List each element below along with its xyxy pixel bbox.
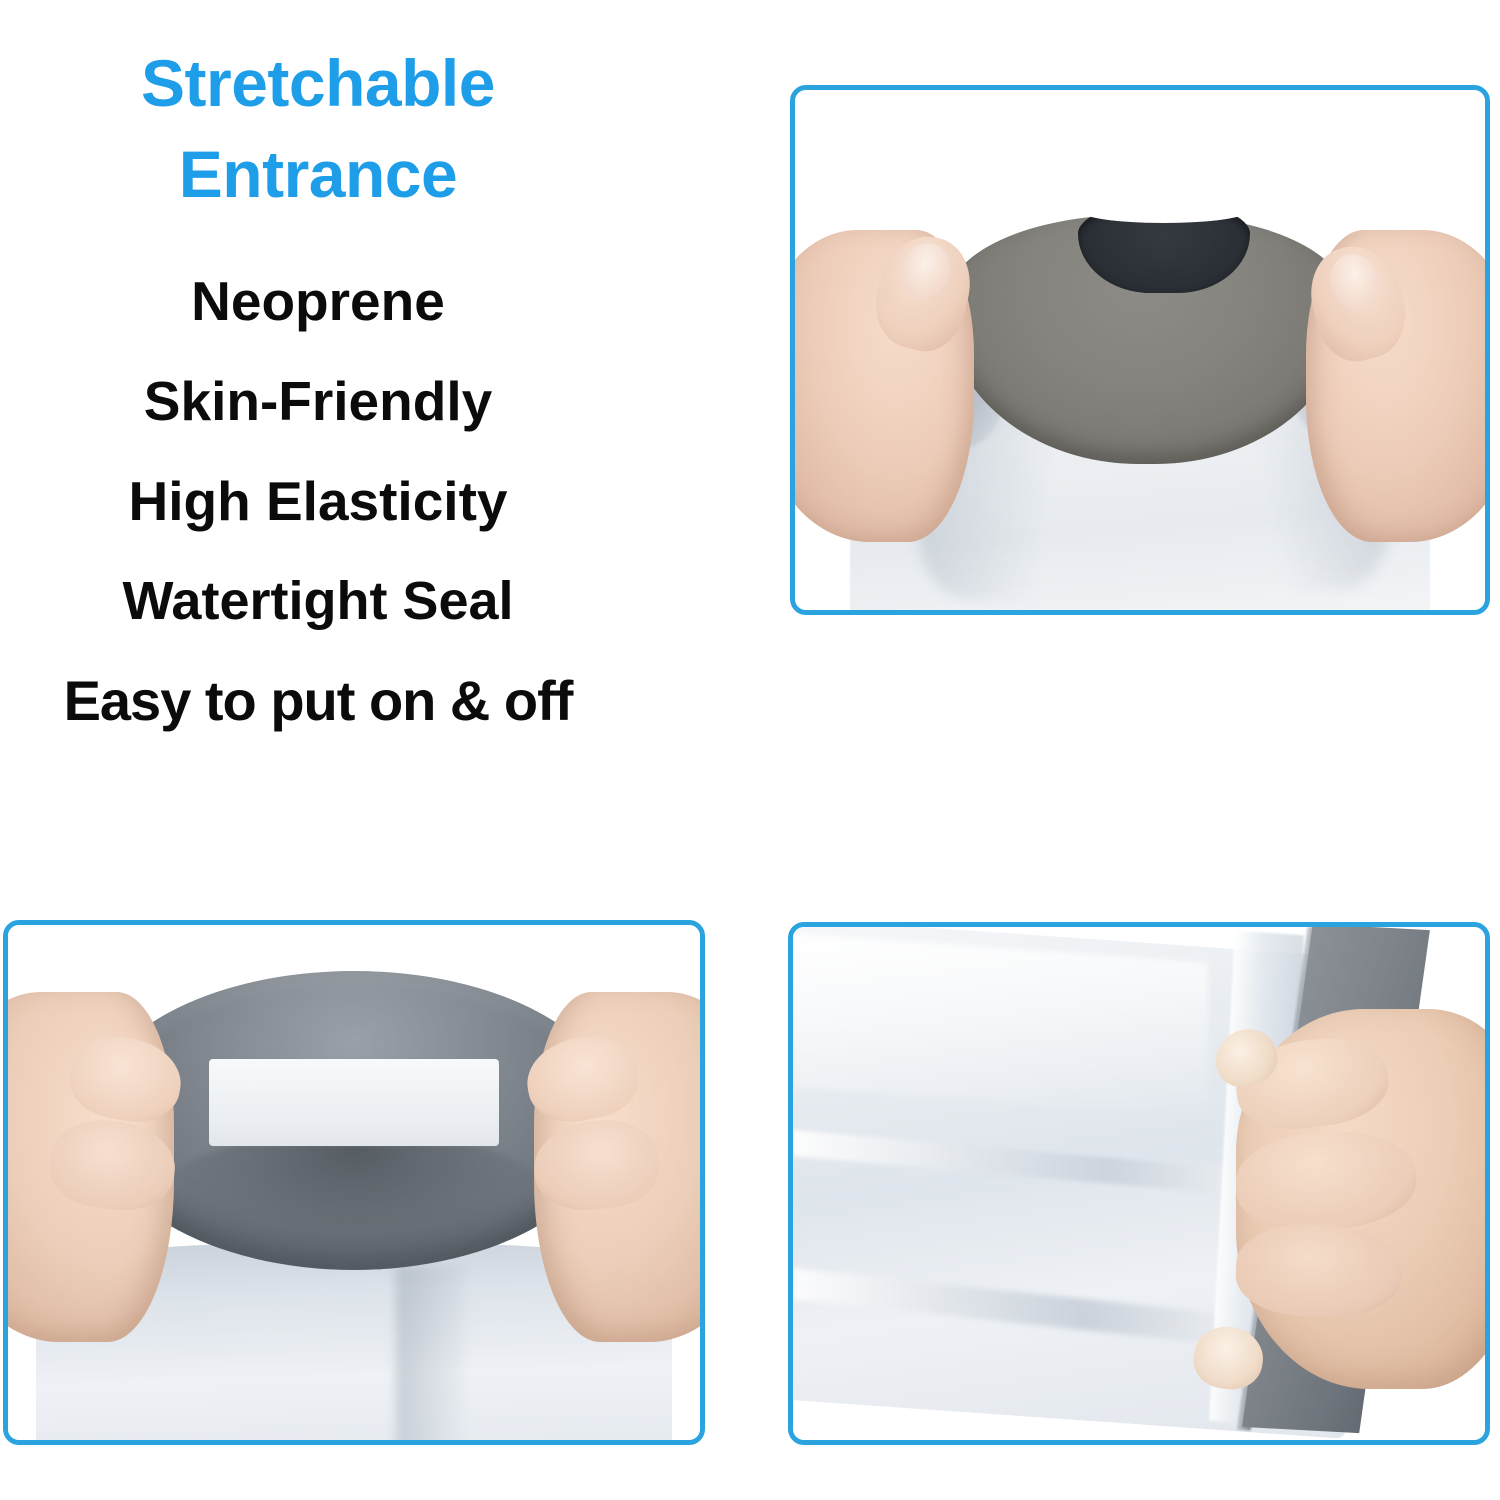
ring-inner-shadow [160,1131,548,1265]
sheet-fold [396,1265,465,1440]
headline-line-2: Entrance [0,129,636,220]
feature-list: Neoprene Skin-Friendly High Elasticity W… [0,274,636,729]
infographic-canvas: Stretchable Entrance Neoprene Skin-Frien… [0,0,1500,1500]
photo-collar-held-open [795,90,1485,610]
feature-item-skin-friendly: Skin-Friendly [0,374,636,429]
headline-line-1: Stretchable [0,38,636,129]
photo-sheet-gripped-at-edge [793,927,1485,1440]
photo-ring-stretched-open [8,925,700,1440]
page-title: Stretchable Entrance [0,38,636,220]
feature-item-high-elasticity: High Elasticity [0,474,636,529]
collar-opening [1078,197,1251,223]
feature-item-easy-on-off: Easy to put on & off [0,673,636,729]
product-photo-panel-bottom-right [788,922,1490,1445]
ring-stretch-gap [209,1059,500,1147]
feature-item-neoprene: Neoprene [0,274,636,329]
product-photo-panel-bottom-left [3,920,705,1445]
sheet-highlight [793,933,1208,1116]
feature-item-watertight-seal: Watertight Seal [0,574,636,628]
product-photo-panel-top-right [790,85,1490,615]
feature-text-column: Stretchable Entrance Neoprene Skin-Frien… [0,38,636,729]
